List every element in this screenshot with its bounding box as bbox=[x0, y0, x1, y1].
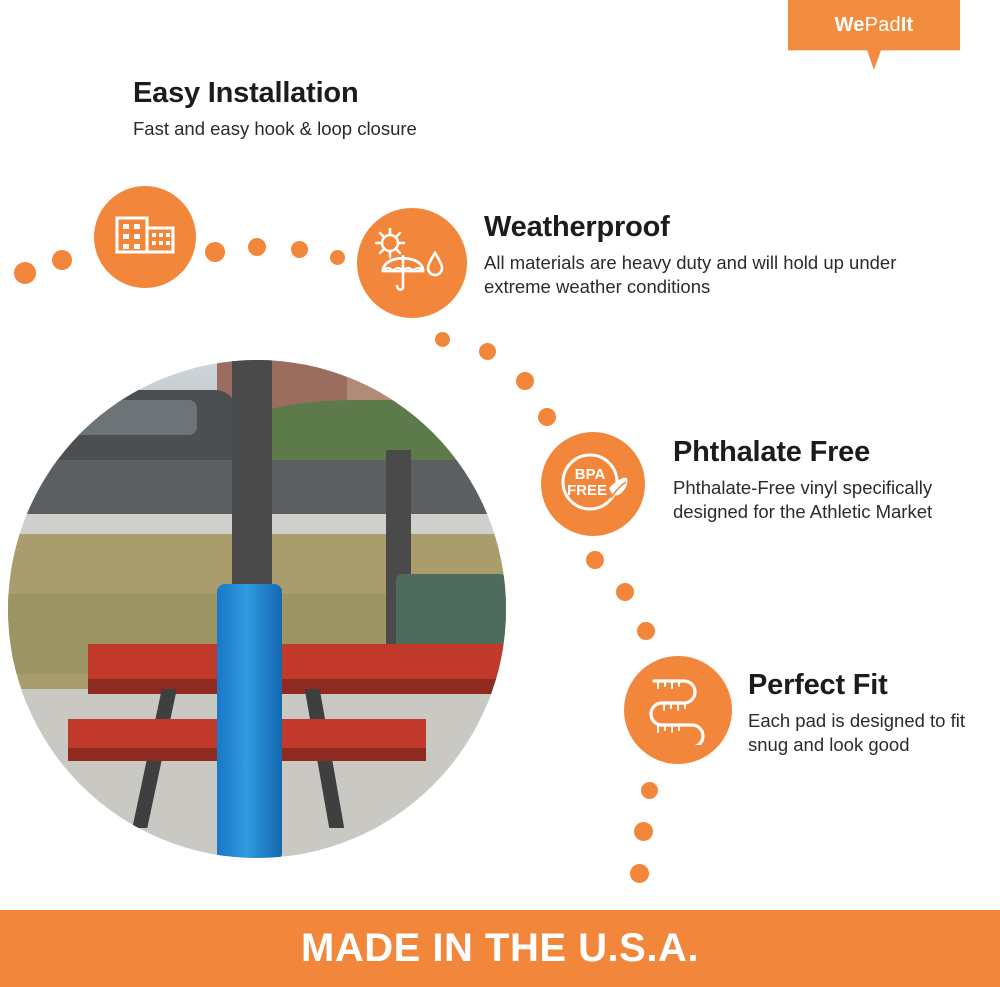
product-feature-infographic: WePadIt Easy Installation Fast and easy … bbox=[0, 0, 1000, 987]
bpa-icon-line2: FREE bbox=[567, 482, 607, 499]
bpa-free-icon: BPA FREE bbox=[541, 432, 645, 536]
path-dot bbox=[538, 408, 556, 426]
feature-title-weatherproof: Weatherproof bbox=[484, 212, 914, 244]
path-dot bbox=[616, 583, 634, 601]
building-icon bbox=[94, 186, 196, 288]
photo-blue-pole-pad bbox=[217, 584, 282, 858]
bpa-icon-line1: BPA bbox=[575, 466, 606, 483]
feature-title-phthalate-free: Phthalate Free bbox=[673, 437, 983, 469]
photo-hedge bbox=[247, 400, 506, 460]
logo-text-pad: Pad bbox=[865, 14, 901, 36]
feature-block-weatherproof: Weatherproof All materials are heavy dut… bbox=[484, 212, 914, 300]
photo-pole-primary bbox=[232, 360, 272, 594]
photo-vehicle-window bbox=[48, 400, 197, 435]
made-in-usa-text: MADE IN THE U.S.A. bbox=[301, 926, 699, 971]
path-dot bbox=[630, 864, 649, 883]
path-dot bbox=[435, 332, 450, 347]
path-dot bbox=[205, 242, 225, 262]
path-dot bbox=[641, 782, 658, 799]
measuring-tape-icon bbox=[624, 656, 732, 764]
logo-text-it: It bbox=[901, 14, 914, 36]
path-dot bbox=[52, 250, 72, 270]
photo-table-top-edge bbox=[88, 679, 506, 694]
path-dot bbox=[291, 241, 308, 258]
feature-block-perfect-fit: Perfect Fit Each pad is designed to fit … bbox=[748, 670, 988, 758]
feature-desc-weatherproof: All materials are heavy duty and will ho… bbox=[484, 251, 914, 300]
feature-title-perfect-fit: Perfect Fit bbox=[748, 670, 988, 702]
path-dot bbox=[248, 238, 266, 256]
feature-desc-perfect-fit: Each pad is designed to fit snug and loo… bbox=[748, 709, 988, 758]
feature-desc-easy-installation: Fast and easy hook & loop closure bbox=[133, 117, 553, 142]
logo-text-we: We bbox=[835, 14, 865, 36]
feature-desc-phthalate-free: Phthalate-Free vinyl specifically design… bbox=[673, 476, 983, 525]
feature-block-phthalate-free: Phthalate Free Phthalate-Free vinyl spec… bbox=[673, 437, 983, 525]
path-dot bbox=[634, 822, 653, 841]
feature-block-easy-installation: Easy Installation Fast and easy hook & l… bbox=[133, 78, 553, 141]
path-dot bbox=[330, 250, 345, 265]
path-dot bbox=[637, 622, 655, 640]
feature-title-easy-installation: Easy Installation bbox=[133, 78, 553, 110]
logo-text: WePadIt bbox=[788, 14, 960, 37]
made-in-usa-banner: MADE IN THE U.S.A. bbox=[0, 910, 1000, 987]
photo-table-top bbox=[88, 644, 506, 679]
path-dot bbox=[14, 262, 36, 284]
brand-logo-badge: WePadIt bbox=[788, 0, 960, 70]
product-photo bbox=[8, 360, 506, 858]
sun-umbrella-rain-icon bbox=[357, 208, 467, 318]
path-dot bbox=[516, 372, 534, 390]
path-dot bbox=[586, 551, 604, 569]
path-dot bbox=[479, 343, 496, 360]
